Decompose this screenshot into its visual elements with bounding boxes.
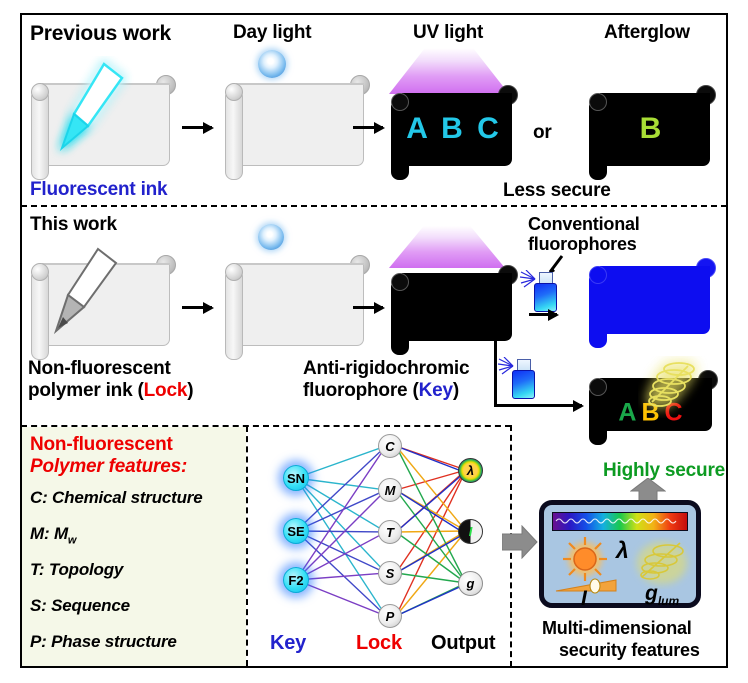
feature-item-t: T: Topology <box>30 560 123 579</box>
key-word: Key <box>419 380 453 401</box>
arrow-to-device <box>502 525 538 559</box>
scroll-knob-left <box>391 273 409 291</box>
arrow-2 <box>353 126 383 129</box>
scroll-knob-left <box>225 263 243 281</box>
network-output-label: Output <box>431 632 495 654</box>
network-node-s[interactable]: S <box>378 561 402 585</box>
scroll-knob-left <box>589 378 607 396</box>
scroll-knob-left <box>225 83 243 101</box>
connector-arrow-to-abc <box>494 404 582 407</box>
network-lock-label: Lock <box>356 632 402 654</box>
scroll-knob-left <box>31 83 49 101</box>
arrow-1 <box>182 126 212 129</box>
day-light-label: Day light <box>233 22 311 43</box>
fluoro-line2-prefix: fluorophore ( <box>303 380 419 401</box>
fluorophore-label-line2: fluorophore (Key) <box>303 380 459 401</box>
scroll-topbar <box>600 93 710 95</box>
uv-light-label: UV light <box>413 22 483 43</box>
spectrum-waves-icon <box>554 515 686 526</box>
scroll-blue-fluorescent <box>586 258 718 348</box>
network-node-f2[interactable]: F2 <box>283 567 309 593</box>
features-heading-line2: Polymer features: <box>30 456 187 477</box>
feature-m-subscript: w <box>68 534 76 546</box>
afterglow-label: Afterglow <box>604 22 690 43</box>
scroll-blank-2 <box>222 75 372 180</box>
network-node-lambda[interactable]: λ <box>458 458 483 483</box>
network-node-sn[interactable]: SN <box>283 465 309 491</box>
network-node-g[interactable]: g <box>458 571 483 596</box>
intensity-slider-icon[interactable] <box>554 577 620 595</box>
scroll-roll-left <box>31 89 49 180</box>
fluorescent-ink-label: Fluorescent ink <box>30 179 167 200</box>
ink-line2-prefix: polymer ink ( <box>28 380 144 401</box>
intensity-symbol: I <box>581 587 587 611</box>
bottle-glass <box>512 370 535 399</box>
scroll-uv-text: A B C <box>388 112 520 146</box>
scroll-topbar <box>236 83 364 85</box>
network-node-p[interactable]: P <box>378 604 402 628</box>
divider-features-network <box>246 426 248 666</box>
network-node-se[interactable]: SE <box>283 518 309 544</box>
feature-m-text: M: M <box>30 524 68 543</box>
security-device: λ I glum <box>539 500 701 608</box>
conventional-fluorophore-bottle <box>531 270 557 310</box>
fluorophore-label-line1: Anti-rigidochromic <box>303 358 469 379</box>
day-light-orb-2 <box>258 224 284 250</box>
scroll-roll-left <box>225 269 243 360</box>
scroll-body <box>600 266 710 334</box>
scroll-uv-abc: A B C <box>388 85 520 180</box>
connector-vertical <box>494 340 497 405</box>
scroll-knob-left <box>391 93 409 111</box>
scroll-roll-left <box>225 89 243 180</box>
conventional-label-line2: fluorophores <box>528 234 637 254</box>
scroll-knob-left <box>589 266 607 284</box>
network-node-m[interactable]: M <box>378 478 402 502</box>
glum-g: g <box>645 582 658 605</box>
feature-item-p: P: Phase structure <box>30 632 177 651</box>
polymer-ink-label-line2: polymer ink (Lock) <box>28 380 193 401</box>
divider-top-middle <box>21 205 727 207</box>
security-caption-line2: security features <box>559 640 700 660</box>
glowing-coil-icon <box>638 356 708 418</box>
scroll-topbar <box>402 93 512 95</box>
polymer-ink-label-line1: Non-fluorescent <box>28 358 171 379</box>
feature-item-c: C: Chemical structure <box>30 488 202 507</box>
features-heading-line1: Non-fluorescent <box>30 434 173 455</box>
feature-item-s: S: Sequence <box>30 596 130 615</box>
ink-line2-suffix: ) <box>187 380 193 401</box>
scroll-topbar <box>236 263 364 265</box>
polymer-pen-icon <box>46 245 126 345</box>
network-node-intensity[interactable]: I <box>458 519 483 544</box>
less-secure-label: Less secure <box>503 180 611 201</box>
scroll-knob-left <box>589 93 607 111</box>
scroll-body <box>402 273 512 341</box>
arrow-bottle-1 <box>529 313 557 316</box>
this-work-label: This work <box>30 214 117 235</box>
anti-rigidochromic-bottle <box>509 357 535 397</box>
glum-sub: lum <box>658 594 679 608</box>
network-node-c[interactable]: C <box>378 434 402 458</box>
scroll-uv-blank <box>388 265 520 355</box>
scroll-topbar <box>402 273 512 275</box>
scroll-afterglow-b: B <box>586 85 718 180</box>
figure-root: Previous work Day light UV light Aftergl… <box>0 0 748 683</box>
scroll-body <box>236 83 364 166</box>
scroll-topbar <box>600 266 710 268</box>
previous-work-label: Previous work <box>30 22 171 46</box>
fluoro-line2-suffix: ) <box>453 380 459 401</box>
network-key-label: Key <box>270 632 306 654</box>
arrow-3 <box>182 306 212 309</box>
feature-item-m: M: Mw <box>30 524 76 547</box>
glum-symbol: glum <box>645 582 679 608</box>
scroll-blank-3 <box>222 255 372 360</box>
lock-word: Lock <box>144 380 188 401</box>
conventional-label-line1: Conventional <box>528 214 640 234</box>
lambda-symbol: λ <box>616 537 629 564</box>
scroll-body <box>236 263 364 346</box>
day-light-orb <box>258 50 286 78</box>
fluorescent-pen-icon <box>48 56 138 166</box>
or-label: or <box>533 122 552 143</box>
scroll-afterglow-text: B <box>586 112 718 146</box>
security-caption-line1: Multi-dimensional <box>542 618 692 638</box>
network-node-t[interactable]: T <box>378 520 402 544</box>
arrow-4 <box>353 306 383 309</box>
